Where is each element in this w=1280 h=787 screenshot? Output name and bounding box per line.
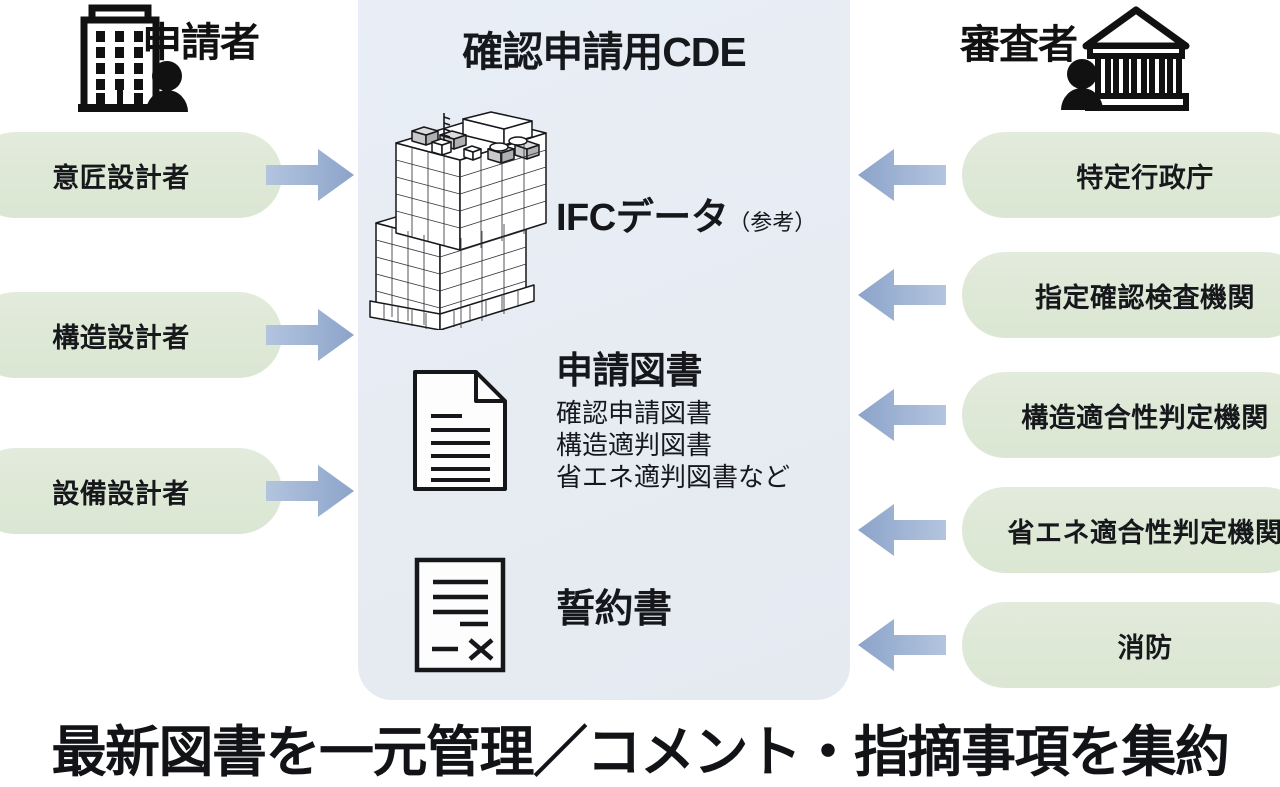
arrow-left-icon: [858, 147, 946, 203]
pill-designated-inspection-body[interactable]: 指定確認検査機関: [962, 252, 1280, 338]
pill-label: 指定確認検査機関: [1035, 276, 1255, 315]
document-icon: [410, 368, 510, 493]
arrow-right-icon: [266, 463, 354, 519]
pill-label: 構造設計者: [52, 316, 190, 355]
document-line: 省エネ適判図書など: [556, 461, 790, 493]
arrow-left-icon: [858, 267, 946, 323]
arrow-left-icon: [858, 502, 946, 558]
application-documents-block: 申請図書 確認申請図書 構造適判図書 省エネ適判図書など: [556, 352, 790, 494]
summary-banner: 最新図書を一元管理／コメント・指摘事項を集約: [0, 706, 1280, 787]
bank-building-person-icon: [1050, 2, 1190, 119]
pill-label: 構造適合性判定機関: [1021, 396, 1269, 435]
pill-label: 意匠設計者: [52, 156, 190, 195]
pill-label: 省エネ適合性判定機関: [1008, 511, 1280, 550]
diagram-canvas: 確認申請用CDE: [0, 0, 1280, 787]
pill-label: 特定行政庁: [1076, 156, 1214, 195]
pill-structural-conformity-body[interactable]: 構造適合性判定機関: [962, 372, 1280, 458]
application-documents-title: 申請図書: [556, 352, 790, 391]
application-documents-lines: 確認申請図書 構造適判図書 省エネ適判図書など: [556, 397, 790, 494]
arrow-right-icon: [266, 147, 354, 203]
pill-fire-department[interactable]: 消防: [962, 602, 1280, 688]
arrow-left-icon: [858, 617, 946, 673]
pill-design-architect[interactable]: 意匠設計者: [0, 132, 282, 218]
pill-designated-administrative-agency[interactable]: 特定行政庁: [962, 132, 1280, 218]
document-line: 構造適判図書: [556, 429, 790, 461]
ifc-data-label: IFCデータ: [556, 186, 728, 241]
pill-label: 消防: [1118, 626, 1173, 665]
building-wireframe-icon: [368, 105, 583, 330]
pledge-document-icon: [412, 556, 508, 674]
ifc-data-row: IFCデータ （参考）: [556, 186, 816, 241]
pill-energy-conformity-body[interactable]: 省エネ適合性判定機関: [962, 487, 1280, 573]
summary-banner-text: 最新図書を一元管理／コメント・指摘事項を集約: [51, 707, 1228, 787]
pill-equipment-designer[interactable]: 設備設計者: [0, 448, 282, 534]
ifc-data-note: （参考）: [728, 205, 816, 237]
pill-structural-designer[interactable]: 構造設計者: [0, 292, 282, 378]
arrow-left-icon: [858, 387, 946, 443]
applicant-group-label: 申請者: [142, 10, 259, 68]
pledge-title: 誓約書: [556, 578, 672, 634]
pill-label: 設備設計者: [52, 472, 190, 511]
cde-panel-title: 確認申請用CDE: [358, 18, 850, 78]
arrow-right-icon: [266, 307, 354, 363]
document-line: 確認申請図書: [556, 397, 790, 429]
